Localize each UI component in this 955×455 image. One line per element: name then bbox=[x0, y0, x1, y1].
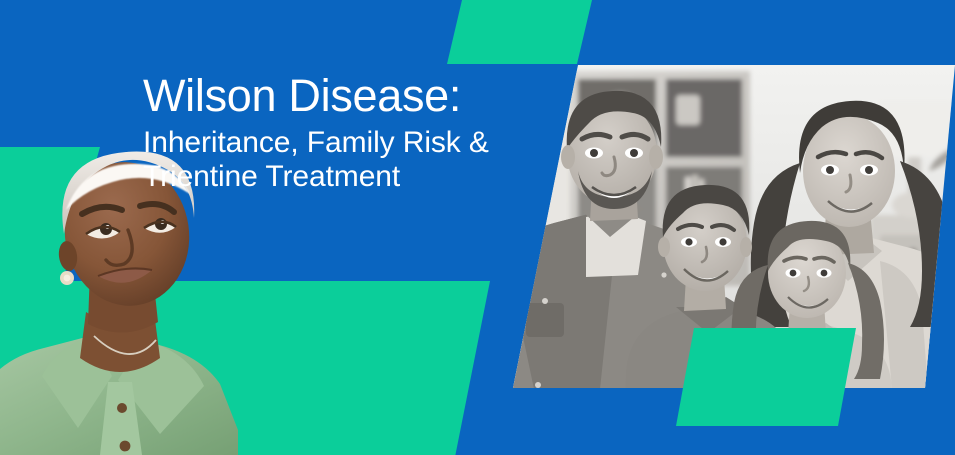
headline-subtitle: Inheritance, Family Risk & Trientine Tre… bbox=[143, 126, 563, 194]
page-title: Wilson Disease: Inheritance, Family Risk… bbox=[143, 72, 563, 194]
headline-sub-line-2: Trientine Treatment bbox=[143, 160, 563, 194]
headline-main-line: Wilson Disease: bbox=[143, 72, 563, 120]
wilson-disease-banner: Wilson Disease: Inheritance, Family Risk… bbox=[0, 0, 955, 455]
woman-portrait bbox=[0, 150, 314, 455]
headline-sub-line-1: Inheritance, Family Risk & bbox=[143, 126, 563, 160]
green-parallelogram-top-shape bbox=[0, 0, 955, 66]
